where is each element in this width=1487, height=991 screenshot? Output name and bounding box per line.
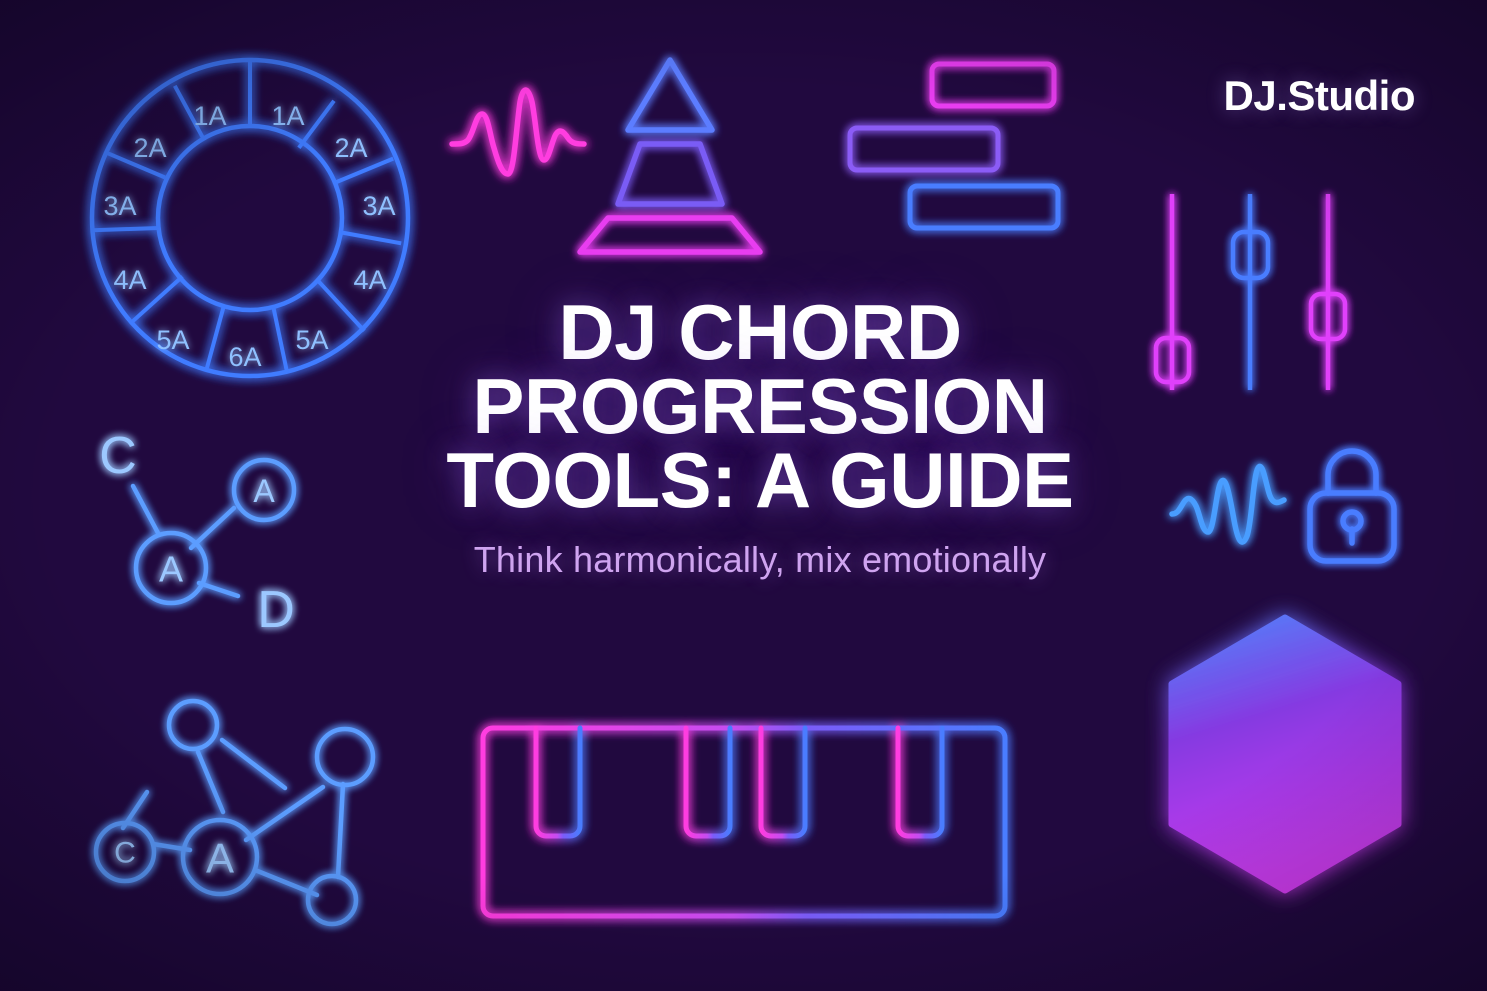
wheel-segment-6: 3A: [362, 191, 395, 221]
wheel-segment-9: 5A: [156, 325, 189, 355]
arrangement-bar-2: [850, 128, 998, 170]
wheel-segment-1: 1A: [193, 101, 226, 131]
hero-title-block: DJ CHORD PROGRESSION TOOLS: A GUIDE Thin…: [360, 295, 1160, 581]
hero-banner: 1A 1A 2A 2A 3A 3A 4A 4A 5A 5A 6A: [0, 0, 1487, 991]
wheel-segment-4: 2A: [334, 133, 367, 163]
pyramid-tier-3: [580, 218, 760, 252]
graph-label-a1: A: [253, 473, 275, 509]
mixer-pyramid[interactable]: [560, 52, 780, 262]
slider-track-1: [1156, 194, 1189, 390]
hero-subtitle: Think harmonically, mix emotionally: [360, 539, 1160, 581]
wheel-segment-8: 4A: [353, 265, 386, 295]
slider-track-3: [1311, 194, 1345, 390]
piano-frame: [483, 728, 1005, 916]
graph2-node-bottom: [308, 876, 356, 924]
waveform-blue-icon: [1168, 452, 1288, 557]
slider-track-2: [1233, 194, 1268, 390]
arrangement-bar-3: [910, 186, 1058, 228]
piano-keyboard[interactable]: [478, 718, 1010, 923]
title-line-1: DJ CHORD: [360, 295, 1160, 369]
graph-label-d: D: [257, 581, 295, 639]
graph2-node-right: [317, 729, 373, 785]
page-title: DJ CHORD PROGRESSION TOOLS: A GUIDE: [360, 295, 1160, 517]
brand-logo[interactable]: DJ.Studio: [1224, 72, 1416, 120]
wheel-segment-5: 3A: [103, 191, 136, 221]
graph2-node-top: [169, 701, 217, 749]
lock-shackle: [1328, 451, 1376, 493]
wheel-segment-10: 5A: [295, 325, 328, 355]
title-line-3: TOOLS: A GUIDE: [360, 443, 1160, 517]
wheel-segment-3: 2A: [133, 133, 166, 163]
wheel-segment-7: 4A: [113, 265, 146, 295]
arrangement-bar-1: [932, 64, 1054, 106]
chord-node-graph-small[interactable]: C A A D: [86, 428, 316, 648]
mixer-sliders[interactable]: [1150, 190, 1360, 405]
arrangement-bars[interactable]: [838, 58, 1068, 238]
graph-label-c: C: [99, 427, 137, 485]
title-line-2: PROGRESSION: [360, 369, 1160, 443]
graph2-label-a: A: [206, 835, 234, 882]
wheel-segment-11: 6A: [228, 342, 261, 372]
hexagon-badge[interactable]: [1160, 612, 1410, 897]
pyramid-tier-2: [618, 144, 722, 204]
graph2-label-c: C: [114, 837, 136, 870]
wheel-segment-2: 1A: [271, 101, 304, 131]
pyramid-tier-1: [628, 60, 712, 130]
graph-label-a2: A: [159, 549, 183, 590]
chord-node-graph-large[interactable]: C A: [80, 692, 400, 942]
harmonic-lock-icon[interactable]: [1300, 445, 1405, 570]
